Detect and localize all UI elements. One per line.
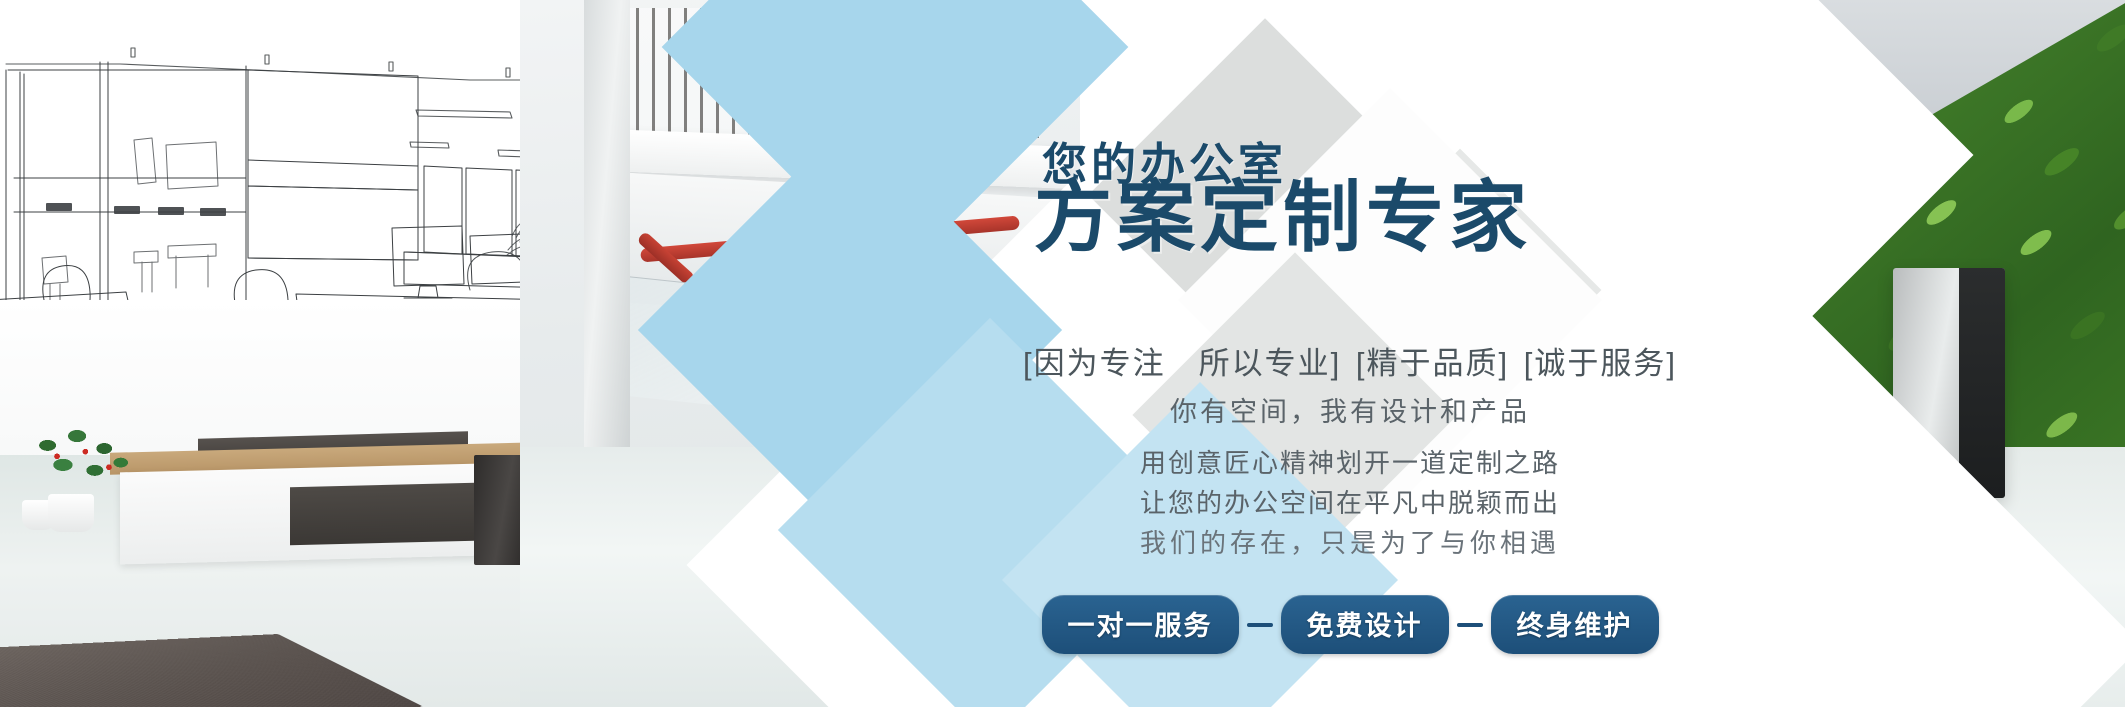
- plant-leaves: [24, 422, 142, 500]
- bracket-item-3: [诚于服务]: [1524, 346, 1677, 381]
- reception-desk-photo: [0, 300, 560, 707]
- plant-pot: [48, 494, 94, 532]
- paragraph-line-2: 让您的办公空间在平凡中脱颖而出: [960, 483, 1740, 523]
- service-tag-group: 一对一服务 免费设计 终身维护: [960, 595, 1740, 654]
- paragraph-line-1: 用创意匠心精神划开一道定制之路: [960, 443, 1740, 483]
- banner-paragraph: 用创意匠心精神划开一道定制之路 让您的办公空间在平凡中脱颖而出 我们的存在，只是…: [960, 443, 1740, 563]
- paragraph-line-3: 我们的存在，只是为了与你相遇: [960, 523, 1740, 563]
- tag-lifetime-maintenance[interactable]: 终身维护: [1491, 595, 1659, 654]
- bracket-item-1: [因为专注 所以专业]: [1023, 346, 1341, 381]
- tag-free-design[interactable]: 免费设计: [1281, 595, 1449, 654]
- tag-separator-2: [1457, 623, 1483, 627]
- desk-dark-panel: [290, 482, 475, 545]
- hero-banner: 您的办公室 方案定制专家 [因为专注 所以专业] [精于品质] [诚于服务] 你…: [0, 0, 2125, 707]
- tag-one-on-one-service[interactable]: 一对一服务: [1042, 595, 1239, 654]
- banner-headline: 方案定制专家: [1034, 178, 1532, 258]
- banner-bracket-tagline: [因为专注 所以专业] [精于品质] [诚于服务]: [960, 338, 1740, 383]
- banner-subline: 你有空间，我有设计和产品: [960, 390, 1740, 429]
- bracket-item-2: [精于品质]: [1356, 346, 1509, 381]
- tag-separator-1: [1247, 623, 1273, 627]
- potted-plant: [22, 422, 142, 532]
- banner-content: 您的办公室 方案定制专家 [因为专注 所以专业] [精于品质] [诚于服务] 你…: [960, 0, 1740, 707]
